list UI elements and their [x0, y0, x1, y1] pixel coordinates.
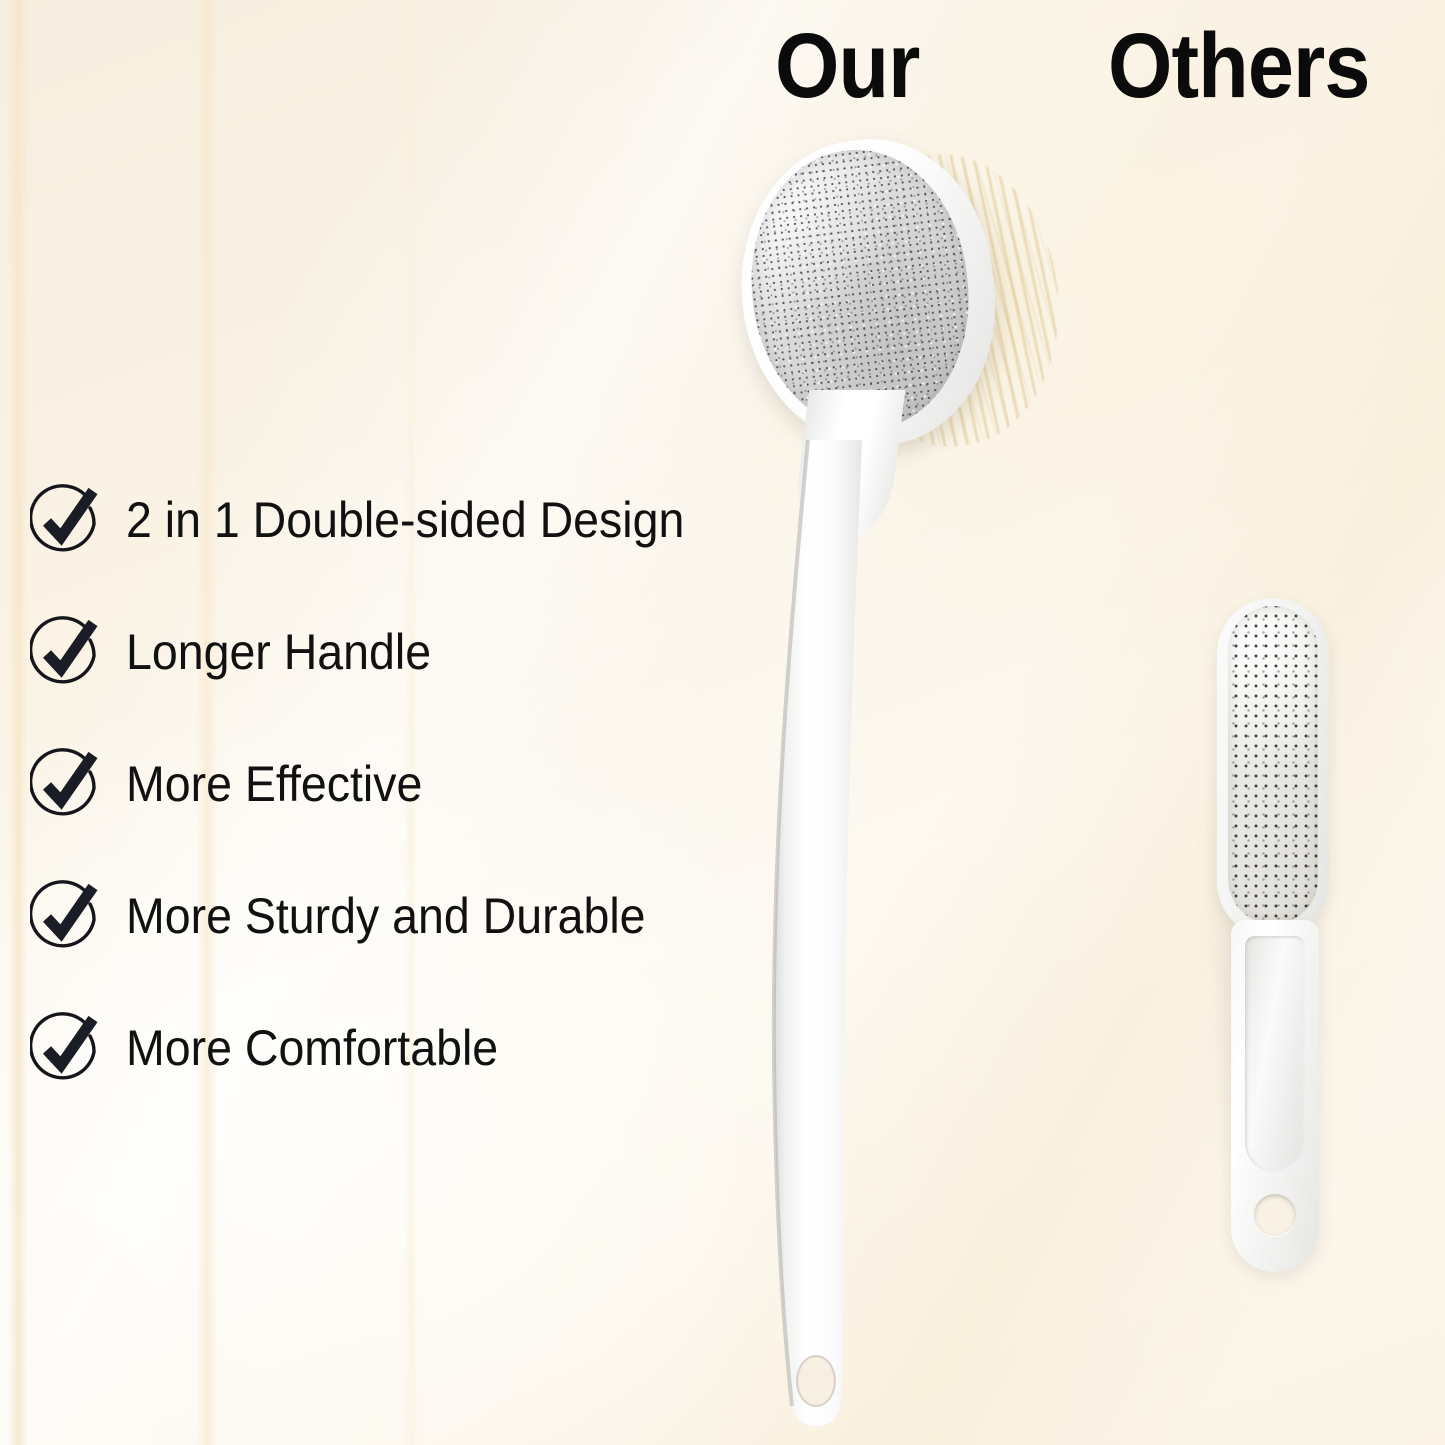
feature-list: 2 in 1 Double-sided Design Longer Handle…: [30, 484, 790, 1144]
others-product-pumice-file: [1195, 590, 1375, 1280]
our-product-bath-brush: [690, 110, 1110, 1440]
feature-label: More Effective: [126, 751, 422, 817]
check-circle-icon: [30, 484, 104, 558]
others-pumice-speckle-texture: [1228, 606, 1318, 924]
feature-item: More Sturdy and Durable: [30, 880, 790, 1012]
long-curved-handle: [750, 440, 900, 1440]
check-circle-icon: [30, 748, 104, 822]
others-grip-channel: [1245, 936, 1305, 1172]
feature-item: More Comfortable: [30, 1012, 790, 1144]
feature-item: 2 in 1 Double-sided Design: [30, 484, 790, 616]
feature-label: Longer Handle: [126, 619, 431, 685]
feature-label: More Sturdy and Durable: [126, 883, 646, 949]
check-circle-icon: [30, 1012, 104, 1086]
check-circle-icon: [30, 616, 104, 690]
feature-item: Longer Handle: [30, 616, 790, 748]
others-short-handle: [1231, 920, 1319, 1272]
product-comparison-image: Our Others 2 in 1 Double-sided Design Lo…: [0, 0, 1445, 1445]
feature-label: More Comfortable: [126, 1015, 498, 1081]
check-circle-icon: [30, 880, 104, 954]
others-hanging-hole: [1254, 1194, 1296, 1236]
header-our: Our: [775, 20, 920, 112]
feature-item: More Effective: [30, 748, 790, 880]
feature-label: 2 in 1 Double-sided Design: [126, 487, 684, 553]
others-pumice-stone-pad: [1228, 606, 1318, 924]
header-others: Others: [1108, 20, 1369, 112]
